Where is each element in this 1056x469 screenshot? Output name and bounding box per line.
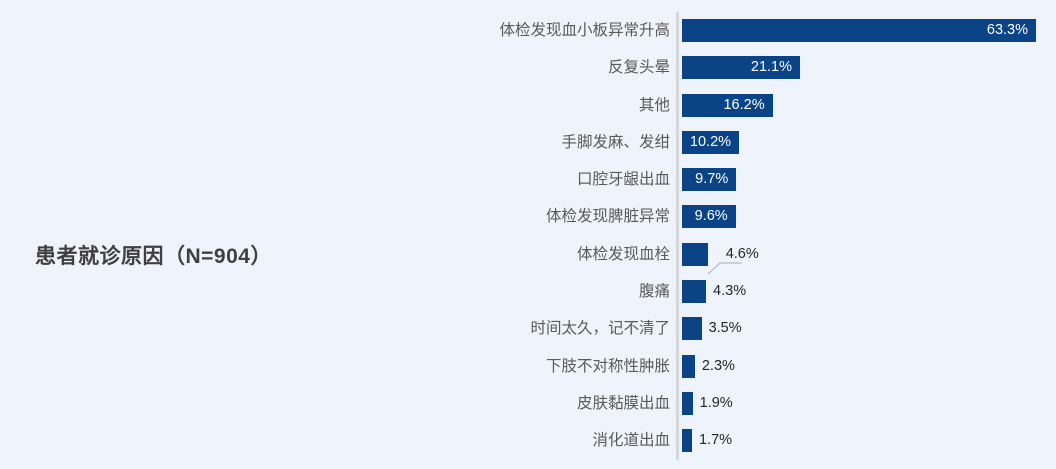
bar-segment[interactable]: 16.2% (682, 94, 773, 117)
bar-segment[interactable] (682, 355, 695, 378)
bar-segment[interactable]: 63.3% (682, 19, 1036, 42)
bar-segment[interactable] (682, 280, 706, 303)
bar-wrapper: 9.6% (682, 205, 736, 228)
bar-value-label: 1.9% (700, 392, 733, 415)
bar-wrapper: 21.1% (682, 56, 800, 79)
bar-segment[interactable]: 21.1% (682, 56, 800, 79)
plot-area: 体检发现血小板异常升高63.3%反复头晕21.1%其他16.2%手脚发麻、发绀1… (0, 0, 1056, 469)
bar-segment[interactable]: 9.6% (682, 205, 736, 228)
category-label: 腹痛 (639, 273, 670, 310)
bar-value-label: 16.2% (723, 94, 764, 117)
bar-segment[interactable]: 9.7% (682, 168, 736, 191)
bar-wrapper: 10.2% (682, 131, 739, 154)
bar-wrapper: 63.3% (682, 19, 1036, 42)
bar-row: 手脚发麻、发绀10.2% (0, 124, 1056, 161)
bar-wrapper: 4.6% (682, 243, 708, 266)
bar-value-label: 21.1% (751, 56, 792, 79)
chart-container: 患者就诊原因（N=904） 体检发现血小板异常升高63.3%反复头晕21.1%其… (0, 0, 1056, 469)
bar-wrapper: 1.9% (682, 392, 693, 415)
bar-value-label: 1.7% (699, 429, 732, 452)
category-label: 消化道出血 (592, 422, 670, 459)
bar-segment[interactable] (682, 429, 692, 452)
bar-value-label: 4.3% (713, 280, 746, 303)
bar-row: 其他16.2% (0, 87, 1056, 124)
category-label: 反复头晕 (608, 49, 670, 86)
bar-row: 体检发现脾脏异常9.6% (0, 198, 1056, 235)
category-label: 口腔牙龈出血 (577, 161, 670, 198)
bar-value-label: 63.3% (987, 19, 1028, 42)
category-label: 时间太久，记不清了 (530, 310, 670, 347)
category-label: 皮肤黏膜出血 (577, 385, 670, 422)
bar-row: 消化道出血1.7% (0, 422, 1056, 459)
bar-wrapper: 1.7% (682, 429, 692, 452)
bar-wrapper: 9.7% (682, 168, 736, 191)
bar-row: 反复头晕21.1% (0, 49, 1056, 86)
bar-segment[interactable] (682, 317, 702, 340)
bar-rows: 体检发现血小板异常升高63.3%反复头晕21.1%其他16.2%手脚发麻、发绀1… (0, 12, 1056, 460)
category-label: 体检发现血小板异常升高 (499, 12, 670, 49)
category-label: 下肢不对称性肿胀 (546, 348, 670, 385)
bar-row: 皮肤黏膜出血1.9% (0, 385, 1056, 422)
bar-value-label: 4.6% (726, 243, 759, 266)
bar-wrapper: 3.5% (682, 317, 702, 340)
bar-segment[interactable] (682, 243, 708, 266)
bar-segment[interactable]: 10.2% (682, 131, 739, 154)
bar-value-label: 3.5% (709, 317, 742, 340)
bar-wrapper: 4.3% (682, 280, 706, 303)
bar-value-label: 10.2% (690, 131, 731, 154)
bar-value-label: 9.7% (695, 168, 728, 191)
bar-row: 体检发现血栓4.6% (0, 236, 1056, 273)
bar-value-label: 2.3% (702, 355, 735, 378)
bar-row: 下肢不对称性肿胀2.3% (0, 348, 1056, 385)
bar-row: 体检发现血小板异常升高63.3% (0, 12, 1056, 49)
bar-value-label: 9.6% (695, 205, 728, 228)
category-label: 体检发现脾脏异常 (546, 198, 670, 235)
bar-row: 口腔牙龈出血9.7% (0, 161, 1056, 198)
bar-segment[interactable] (682, 392, 693, 415)
bar-wrapper: 16.2% (682, 94, 773, 117)
category-label: 手脚发麻、发绀 (561, 124, 670, 161)
bar-row: 腹痛4.3% (0, 273, 1056, 310)
category-label: 体检发现血栓 (577, 236, 670, 273)
bar-wrapper: 2.3% (682, 355, 695, 378)
bar-row: 时间太久，记不清了3.5% (0, 310, 1056, 347)
category-label: 其他 (639, 87, 670, 124)
